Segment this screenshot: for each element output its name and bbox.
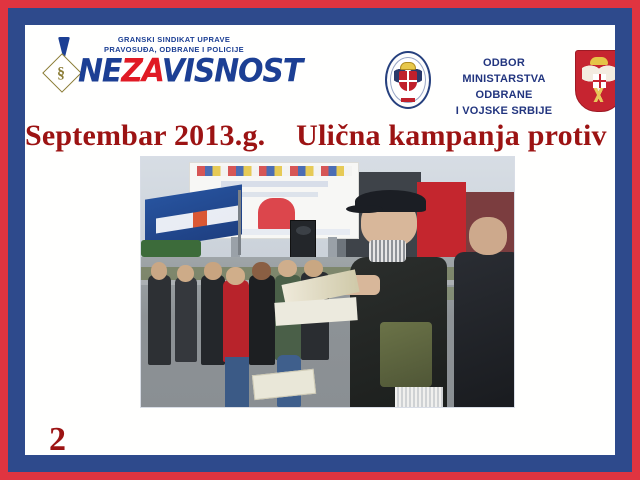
photo-foreground-man-scarf <box>369 240 406 263</box>
union-wordmark: NEZAVISNOST <box>78 54 270 91</box>
committee-title: ODBOR MINISTARSTVA ODBRANE I VOJSKE SRBI… <box>435 55 573 119</box>
union-wordmark-part-2: ZA <box>121 53 162 91</box>
photo-person <box>148 275 170 365</box>
crossed-swords-icon <box>581 88 615 102</box>
committee-line-3: I VOJSKE SRBIJE <box>435 103 573 119</box>
cross-shield-icon <box>399 71 417 91</box>
photo-person <box>204 262 222 280</box>
section-sign-icon: § <box>48 63 74 85</box>
slide-page-number: 2 <box>49 421 66 455</box>
presentation-slide: § GRANSKI SINDIKAT UPRAVE PRAVOSUĐA, ODB… <box>0 0 640 480</box>
photo-person <box>226 267 245 285</box>
photo-striped-shirt <box>395 387 443 407</box>
photo-person <box>225 357 249 407</box>
committee-line-2: MINISTARSTVA ODBRANE <box>435 71 573 103</box>
photo-person <box>278 260 297 278</box>
slide-inner-border: § GRANSKI SINDIKAT UPRAVE PRAVOSUĐA, ODB… <box>8 8 632 472</box>
campaign-photograph: UŠĆE <box>141 157 514 407</box>
photo-right-man-head <box>469 217 506 255</box>
slide-content-area: § GRANSKI SINDIKAT UPRAVE PRAVOSUĐA, ODB… <box>25 25 615 455</box>
photo-person <box>252 262 271 280</box>
photo-building-red <box>417 182 465 257</box>
ministry-of-defence-emblem-icon <box>385 51 431 109</box>
committee-line-1: ODBOR <box>435 55 573 71</box>
billboard-flags-strip <box>197 166 351 176</box>
photo-green-canopy <box>141 240 201 258</box>
photo-person <box>249 275 275 365</box>
crown-icon <box>400 62 416 70</box>
union-wordmark-part-3: VISNOST <box>162 53 302 91</box>
slide-photo-frame: UŠĆE <box>141 157 514 407</box>
photo-person <box>304 260 323 278</box>
slide-header: § GRANSKI SINDIKAT UPRAVE PRAVOSUĐA, ODB… <box>25 25 615 113</box>
serbian-army-coat-of-arms-icon <box>575 50 615 112</box>
photo-person <box>201 275 225 365</box>
nezavisnost-union-logo: § GRANSKI SINDIKAT UPRAVE PRAVOSUĐA, ODB… <box>38 33 270 95</box>
photo-person <box>175 277 197 362</box>
emblem-base <box>401 98 415 102</box>
photo-person <box>177 265 194 283</box>
photo-person <box>223 280 249 363</box>
photo-person <box>151 262 168 280</box>
serbian-cross-icon <box>593 74 606 88</box>
crown-icon <box>590 57 608 65</box>
photo-right-man-body <box>454 252 514 407</box>
union-wordmark-part-1: NE <box>78 53 121 91</box>
slide-title: Septembar 2013.g. Ulična kampanja protiv… <box>25 119 615 153</box>
photo-shoulder-bag <box>380 322 432 387</box>
billboard-subline <box>231 192 318 197</box>
photo-banner-pole <box>238 190 241 255</box>
union-subtitle-line-1: GRANSKI SINDIKAT UPRAVE <box>80 35 268 45</box>
